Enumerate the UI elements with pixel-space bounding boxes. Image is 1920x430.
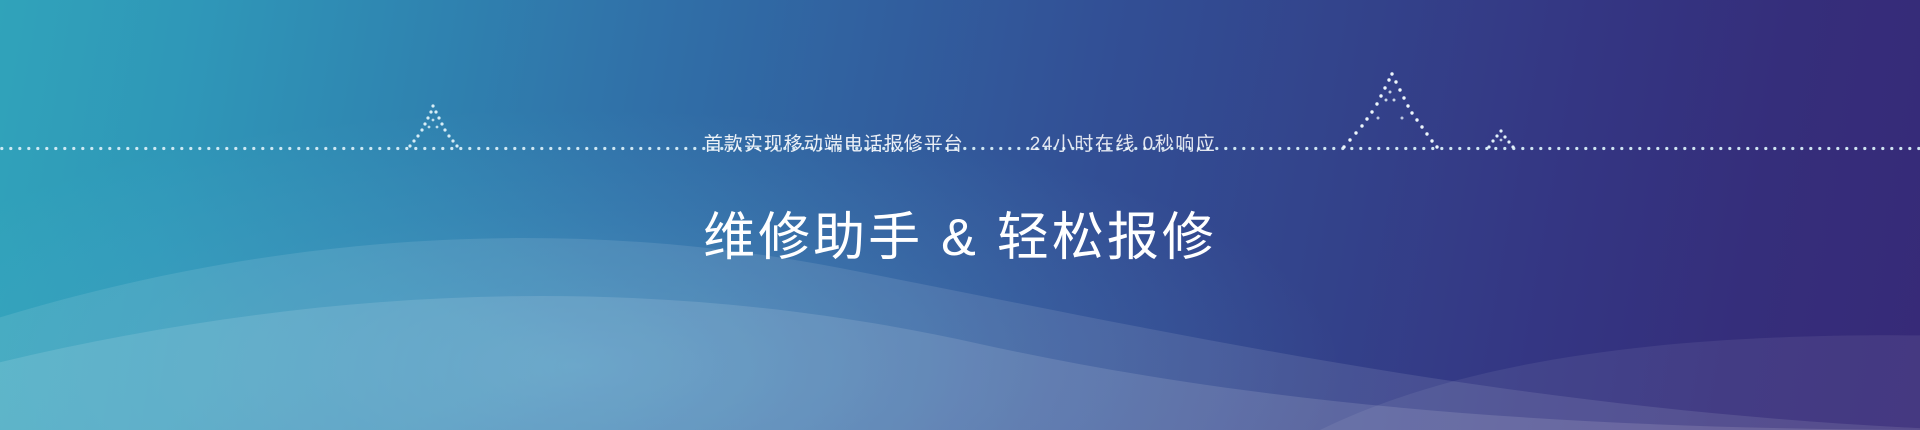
wave-right-lobe <box>1320 335 1920 430</box>
wave-front <box>0 296 1920 430</box>
background-glow <box>0 108 1344 430</box>
headline-left: 维修助手 <box>703 209 923 267</box>
subtitle-metrics: 24小时在线 0秒响应 <box>1030 133 1216 157</box>
headline-separator: & <box>923 209 997 267</box>
hero-banner: 首款实现移动端电话报修平台 24小时在线 0秒响应 维修助手&轻松报修 <box>0 0 1920 430</box>
wave-decoration-group <box>0 0 1920 430</box>
peak-left-small <box>408 104 458 147</box>
headline-right: 轻松报修 <box>997 209 1217 267</box>
peak-right-large <box>1342 72 1438 148</box>
banner-text-block: 首款实现移动端电话报修平台 24小时在线 0秒响应 维修助手&轻松报修 <box>0 0 1920 430</box>
dotted-skyline-group <box>0 0 1920 430</box>
dotted-baseline <box>0 144 1920 153</box>
subtitle-primary: 首款实现移动端电话报修平台 <box>704 133 964 157</box>
peak-right-small <box>1487 129 1514 148</box>
subtitle-row: 首款实现移动端电话报修平台 24小时在线 0秒响应 <box>0 133 1920 157</box>
wave-back <box>0 238 1920 430</box>
baseline-text-gap <box>690 142 1230 154</box>
page-title: 维修助手&轻松报修 <box>0 207 1920 269</box>
